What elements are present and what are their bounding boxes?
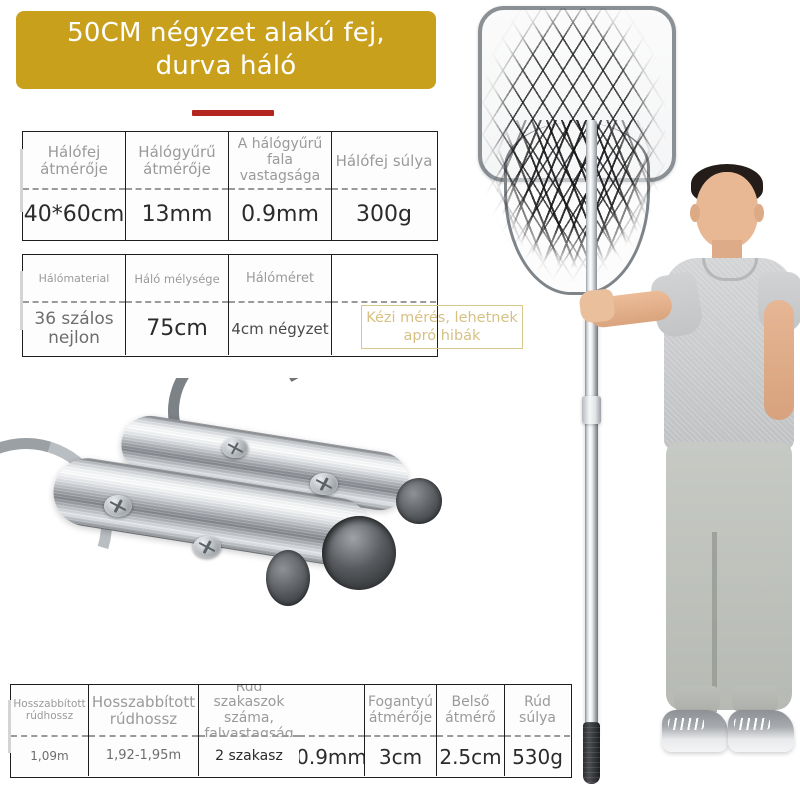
- model-shoe-left: [662, 710, 728, 752]
- spec-cell: Hálómaterial 36 szálos nejlon: [23, 255, 126, 355]
- cell-value: 2.5cm: [437, 737, 504, 776]
- spec-cell: Háló mélysége 75cm: [126, 255, 229, 355]
- column-header: A hálógyűrű fala vastagsága: [229, 132, 331, 190]
- pole-grip: [583, 722, 600, 784]
- cell-value: 3cm: [365, 737, 436, 776]
- cell-value: 40*60cm: [23, 190, 125, 240]
- title-divider: [192, 110, 274, 116]
- tube-open-end: [322, 516, 396, 590]
- model-cuff-right: [732, 686, 778, 712]
- column-header: [299, 685, 364, 737]
- model-arm-right: [764, 300, 794, 420]
- pole-joint-collar: [582, 396, 601, 424]
- spec-table-pole: Hosszabbított rúdhossz 1,09m Hosszabbíto…: [10, 684, 572, 778]
- cell-value: 4cm négyzet: [229, 303, 331, 355]
- cell-value: 300g: [332, 190, 436, 240]
- screw-3: [104, 495, 132, 517]
- tube-capped-end-upper: [396, 478, 442, 524]
- spec-cell: Fogantyú átmérője 3cm: [365, 685, 437, 776]
- cell-value: 1,92-1,95m: [89, 737, 198, 776]
- pole-upper-section: [586, 120, 597, 300]
- model-cuff-left: [674, 686, 720, 712]
- model-shoe-right: [728, 710, 794, 752]
- column-header: Hálófej átmérője: [23, 132, 125, 190]
- model-head: [696, 172, 758, 248]
- cell-value: 13mm: [126, 190, 228, 240]
- column-header: Háló mélysége: [126, 255, 228, 303]
- column-header: Fogantyú átmérője: [365, 685, 436, 737]
- screw-4: [193, 536, 221, 558]
- spec-cell: Hálófej súlya 300g: [332, 132, 436, 240]
- spec-cell: Hosszabbított rúdhossz 1,09m: [11, 685, 89, 776]
- column-header: Rúd súlya: [505, 685, 570, 737]
- spec-cell: Rúd szakaszok száma, falvastagság 2 szak…: [199, 685, 299, 776]
- pole-joint-photo: [0, 378, 470, 663]
- model-pants-seam: [712, 532, 717, 712]
- column-header: Belső átmérő: [437, 685, 504, 737]
- cell-value: 36 szálos nejlon: [23, 303, 125, 355]
- column-header: Hálógyűrű átmérője: [126, 132, 228, 190]
- cell-value: 75cm: [126, 303, 228, 355]
- screw-2: [310, 473, 338, 495]
- model-ear-left: [690, 204, 700, 222]
- cell-value: 0.9mm: [229, 190, 331, 240]
- measurement-note-text: Kézi mérés, lehetnek apró hibák: [366, 309, 518, 345]
- column-header: Hálófej súlya: [332, 132, 436, 190]
- column-header: [332, 255, 436, 303]
- column-header: Hosszabbított rúdhossz: [89, 685, 198, 737]
- column-header: Hosszabbított rúdhossz: [11, 685, 88, 737]
- model-photo: [636, 162, 800, 800]
- cell-value: 1,09m: [11, 737, 88, 776]
- column-header: Rúd szakaszok száma, falvastagság: [199, 685, 299, 737]
- table-row: Hálófej átmérője 40*60cm Hálógyűrű átmér…: [23, 132, 437, 240]
- spec-cell: Rúd súlya 530g: [505, 685, 570, 776]
- spec-cell: Belső átmérő 2.5cm: [437, 685, 505, 776]
- cell-value: 2 szakasz: [199, 737, 299, 776]
- pole-lower-section: [585, 292, 598, 738]
- spec-cell: Hálógyűrű átmérője 13mm: [126, 132, 229, 240]
- model-pants: [666, 442, 792, 710]
- column-header: Hálómaterial: [23, 255, 125, 303]
- screw-1: [222, 438, 248, 458]
- model-hand: [578, 288, 615, 323]
- spec-cell: Hálóméret 4cm négyzet: [229, 255, 332, 355]
- spec-cell: A hálógyűrű fala vastagsága 0.9mm: [229, 132, 332, 240]
- measurement-note: Kézi mérés, lehetnek apró hibák: [361, 305, 523, 349]
- column-header: Hálóméret: [229, 255, 331, 303]
- model-ear-right: [754, 204, 764, 222]
- cell-value: 530g: [505, 737, 570, 776]
- product-infographic: 50CM négyzet alakú fej, durva háló: [0, 0, 800, 800]
- spec-cell: 0.9mm: [299, 685, 365, 776]
- title-banner: 50CM négyzet alakú fej, durva háló: [16, 11, 436, 89]
- spec-table-net-head: Hálófej átmérője 40*60cm Hálógyűrű átmér…: [22, 131, 438, 241]
- cell-value: 0.9mm: [299, 737, 364, 776]
- page-title: 50CM négyzet alakú fej, durva háló: [32, 17, 420, 83]
- table-row: Hosszabbított rúdhossz 1,09m Hosszabbíto…: [11, 685, 571, 776]
- spec-cell: Hosszabbított rúdhossz 1,92-1,95m: [89, 685, 199, 776]
- tube-capped-end-lower: [266, 550, 310, 606]
- spec-cell: Hálófej átmérője 40*60cm: [23, 132, 126, 240]
